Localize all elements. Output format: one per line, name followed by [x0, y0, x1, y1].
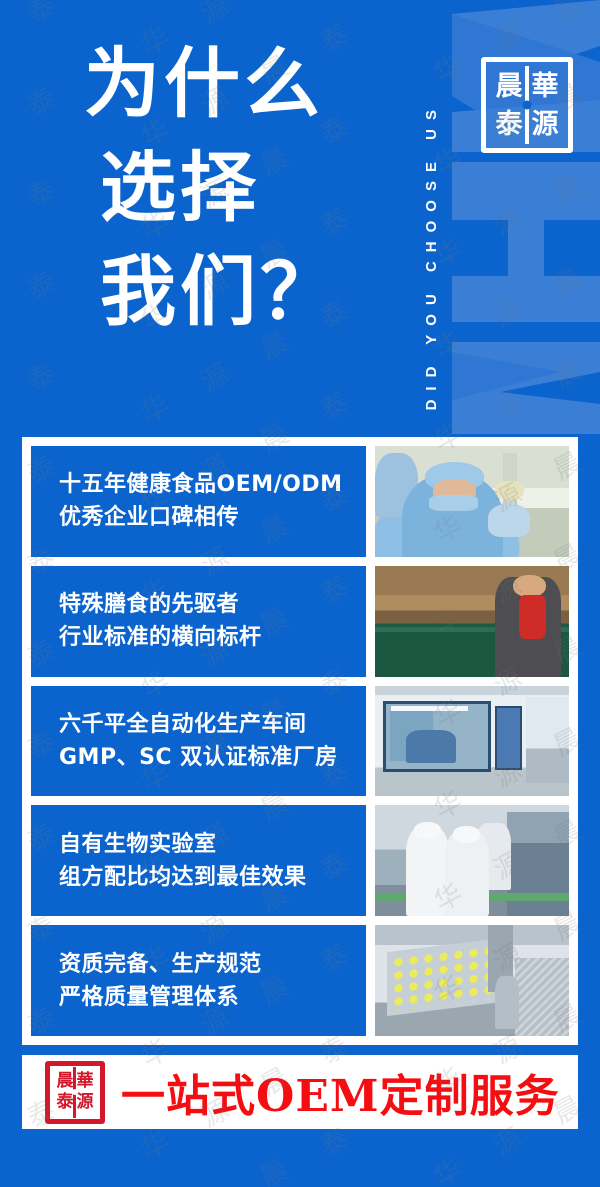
feature-card-text: 自有生物实验室 组方配比均达到最佳效果: [31, 805, 366, 916]
vertical-english-text: DID YOU CHOOSE US: [423, 101, 440, 410]
feature-card[interactable]: 自有生物实验室 组方配比均达到最佳效果: [31, 805, 569, 916]
feature-line-1: 十五年健康食品OEM/ODM: [59, 468, 366, 501]
feature-photo: [375, 805, 569, 916]
seal-char-3: 泰: [55, 1092, 75, 1114]
title-line-3: 我们？: [100, 254, 340, 330]
feature-photo: [375, 446, 569, 557]
feature-line-1: 六千平全自动化生产车间: [59, 708, 366, 741]
feature-line-2: GMP、SC 双认证标准厂房: [59, 741, 366, 774]
feature-photo: [375, 566, 569, 677]
seal-char-2: 華: [527, 67, 563, 105]
feature-line-1: 自有生物实验室: [59, 828, 366, 861]
feature-card[interactable]: 六千平全自动化生产车间 GMP、SC 双认证标准厂房: [31, 686, 569, 797]
feature-card[interactable]: 资质完备、生产规范 严格质量管理体系: [31, 925, 569, 1036]
feature-card-text: 特殊膳食的先驱者 行业标准的横向标杆: [31, 566, 366, 677]
company-seal-icon: 晨 華 泰 源: [481, 57, 573, 153]
seal-char-3: 泰: [491, 105, 527, 143]
feature-card-text: 六千平全自动化生产车间 GMP、SC 双认证标准厂房: [31, 686, 366, 797]
feature-line-1: 特殊膳食的先驱者: [59, 588, 366, 621]
promotional-poster: 为什么 选择 我们？ DID YOU CHOOSE US 晨 華 泰 源 十五年…: [0, 0, 600, 1187]
vertical-english-caption: DID YOU CHOOSE US: [414, 20, 448, 410]
feature-line-1: 资质完备、生产规范: [59, 948, 366, 981]
seal-char-4: 源: [527, 105, 563, 143]
title-line-1: 为什么: [84, 46, 340, 122]
page-title: 为什么 选择 我们？: [84, 46, 340, 330]
feature-panel: 十五年健康食品OEM/ODM 优秀企业口碑相传 特殊膳食的先驱者 行业标准的横向…: [22, 437, 578, 1045]
title-line-2: 选择: [100, 150, 340, 226]
footer-slogan-bar: 晨 華 泰 源 一站式OEM定制服务: [22, 1055, 578, 1129]
feature-card-text: 资质完备、生产规范 严格质量管理体系: [31, 925, 366, 1036]
company-seal-icon-red: 晨 華 泰 源: [45, 1061, 105, 1124]
seal-center-dot: [523, 101, 532, 110]
feature-card-text: 十五年健康食品OEM/ODM 优秀企业口碑相传: [31, 446, 366, 557]
feature-photo: [375, 925, 569, 1036]
seal-char-2: 華: [75, 1071, 95, 1093]
feature-card[interactable]: 特殊膳食的先驱者 行业标准的横向标杆: [31, 566, 569, 677]
feature-line-2: 组方配比均达到最佳效果: [59, 861, 366, 894]
seal-char-4: 源: [75, 1092, 95, 1114]
feature-line-2: 行业标准的横向标杆: [59, 621, 366, 654]
feature-line-2: 优秀企业口碑相传: [59, 501, 366, 534]
feature-line-2: 严格质量管理体系: [59, 981, 366, 1014]
seal-char-1: 晨: [491, 67, 527, 105]
footer-slogan: 一站式OEM定制服务: [121, 1060, 560, 1124]
feature-card[interactable]: 十五年健康食品OEM/ODM 优秀企业口碑相传: [31, 446, 569, 557]
feature-photo: [375, 686, 569, 797]
